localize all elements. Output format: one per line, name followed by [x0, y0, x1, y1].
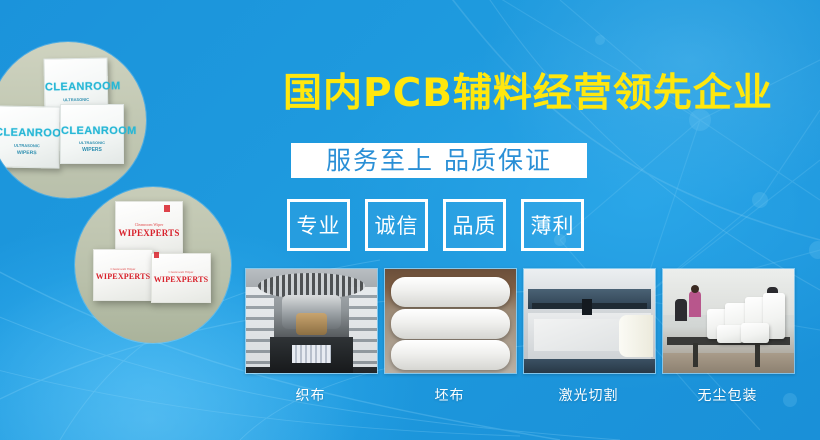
worker-figure — [689, 291, 701, 317]
product-photo-cleanroom-wipes: CLEANROOM ULTRASONIC WIPERS CLEANROOM UL… — [0, 42, 146, 198]
pack-subtext-1: ULTRASONIC — [61, 140, 123, 145]
pack-brand-label: CLEANROOM — [45, 80, 107, 93]
pack-brand-label: WIPEXPERTS — [94, 272, 152, 281]
thumbnail-image-laser-cutter[interactable] — [523, 268, 656, 374]
pack-subtext-1: Cleanroom Wiper — [152, 270, 210, 274]
feature-tag-integrity[interactable]: 诚信 — [365, 199, 428, 251]
feature-tag-quality[interactable]: 品质 — [443, 199, 506, 251]
stamp-mark — [164, 205, 170, 212]
thumbnail-caption: 织布 — [245, 385, 376, 405]
thumbnail-weaving[interactable]: 织布 — [245, 268, 376, 405]
process-thumbnail-strip: 织布 坯布 激光切割 — [245, 268, 793, 405]
feature-tag-low-price[interactable]: 薄利 — [521, 199, 584, 251]
pack-subtext-2: WIPERS — [0, 149, 59, 156]
thumbnail-cleanroom-packaging[interactable]: 无尘包装 — [662, 268, 793, 405]
worker-head — [691, 285, 699, 293]
subtitle-banner: 服务至上 品质保证 — [291, 143, 587, 178]
thumbnail-caption: 激光切割 — [523, 385, 654, 405]
pack-subtext-2: WIPERS — [61, 147, 123, 153]
thumbnail-greige-fabric[interactable]: 坯布 — [384, 268, 515, 405]
subtitle-text: 服务至上 品质保证 — [326, 148, 552, 173]
pack-brand-label: WIPEXPERTS — [116, 228, 182, 238]
thumbnail-laser-cutting[interactable]: 激光切割 — [523, 268, 654, 405]
pack-brand-label: CLEANROOM — [0, 126, 59, 139]
stamp-mark — [154, 252, 159, 258]
feature-tag-professional[interactable]: 专业 — [287, 199, 350, 251]
pack-brand-label: WIPEXPERTS — [152, 275, 210, 284]
pack-subtext-1: ULTRASONIC — [45, 96, 107, 102]
worker-figure — [675, 299, 687, 321]
thumbnail-caption: 无尘包装 — [662, 385, 793, 405]
headline-group: 国内PCB辅料经营领先企业 — [283, 72, 803, 116]
thumbnail-image-fabric-rolls[interactable] — [384, 268, 517, 374]
thumbnail-caption: 坯布 — [384, 385, 515, 405]
pack-brand-label: CLEANROOM — [61, 125, 123, 137]
promo-banner: CLEANROOM ULTRASONIC WIPERS CLEANROOM UL… — [0, 0, 820, 440]
pack-subtext-1: Cleanroom Wiper — [116, 222, 182, 227]
feature-tag-row: 专业 诚信 品质 薄利 — [287, 199, 584, 251]
thumbnail-image-packaging-room[interactable] — [662, 268, 795, 374]
pack-subtext-1: Cleanroom Wiper — [94, 267, 152, 271]
thumbnail-image-knitting-machine[interactable] — [245, 268, 378, 374]
page-title: 国内PCB辅料经营领先企业 — [283, 72, 803, 116]
product-photo-wipexperts-bundles: Cleanroom Wiper WIPEXPERTS Cleanroom Wip… — [75, 187, 231, 343]
pack-subtext-1: ULTRASONIC — [0, 142, 59, 148]
